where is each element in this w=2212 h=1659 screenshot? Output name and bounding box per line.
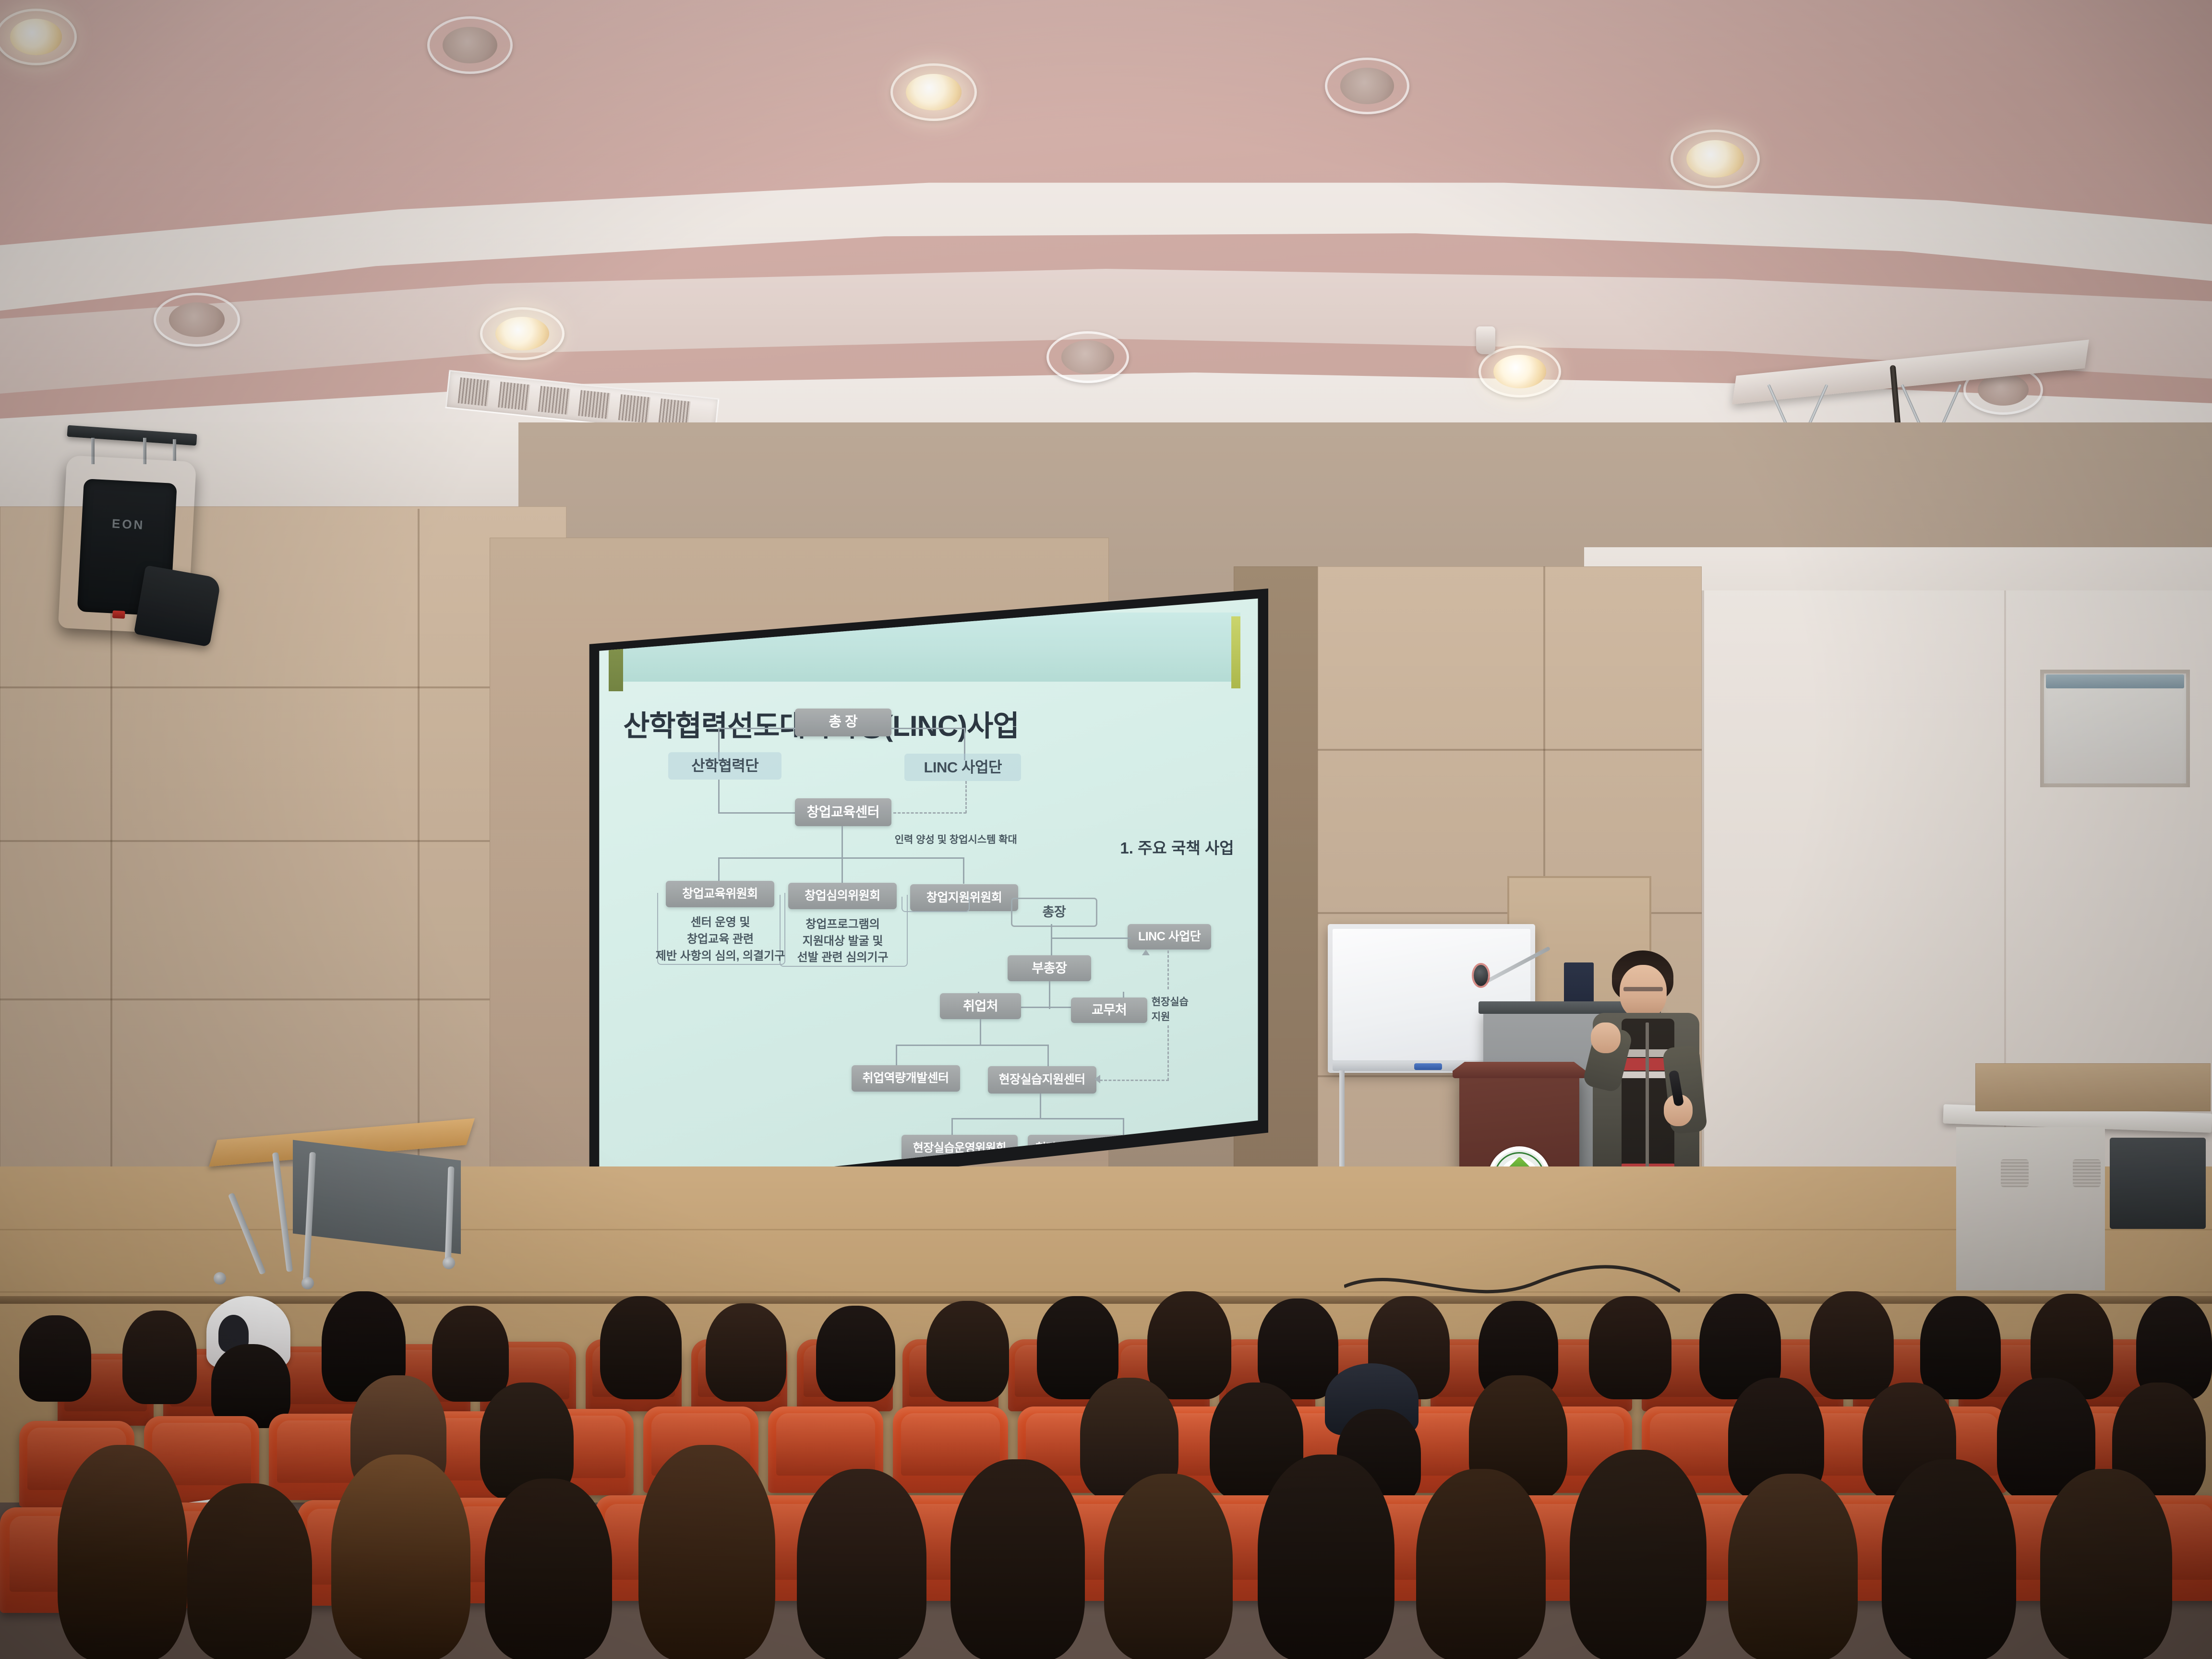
audience-head [432, 1306, 509, 1402]
projection-screen[interactable]: 산학협력선도대학육성(LINC)사업 1. 주요 국책 사업 총 장 산학협력단… [595, 594, 1261, 1196]
audience-head [816, 1306, 895, 1402]
wall-panel-seam [1318, 749, 1702, 751]
org-connector [718, 857, 720, 884]
speaker-secondary-cabinet [134, 565, 222, 647]
org-connector [718, 780, 720, 813]
org2-connector [1051, 924, 1052, 958]
org-connector [842, 857, 843, 884]
wall-panel-seam [418, 509, 420, 1181]
org-node-sanhak: 산학협력단 [668, 752, 781, 780]
audience-head [122, 1310, 197, 1404]
ceiling-downlight-icon [1325, 58, 1409, 114]
org-connector-dashed [893, 812, 966, 814]
org-caption-left: 센터 운영 및 창업교육 관련 제반 사항의 심의, 의결기구 [655, 914, 786, 964]
org2-connector-dashed [1167, 950, 1169, 989]
wall-panel-seam [0, 686, 566, 688]
audience-head [1882, 1459, 2016, 1659]
audience-head [638, 1445, 775, 1659]
audience-head [331, 1455, 470, 1659]
org2-connector [1051, 938, 1130, 939]
org2-node-buchongjang: 부총장 [1008, 955, 1091, 981]
counter-equipment-icon [2110, 1138, 2206, 1229]
audience-head [485, 1479, 612, 1659]
org-connector [842, 826, 843, 859]
org-connector [718, 728, 795, 729]
org-caption-brace [902, 897, 970, 912]
audience-head [187, 1483, 312, 1659]
org2-connector [951, 1118, 1124, 1119]
org2-connector [951, 1118, 953, 1137]
org2-annotation-hyeonjang: 현장실습 지원 [1152, 995, 1238, 1024]
audience-head [2040, 1469, 2172, 1659]
org2-arrow-up-icon [1142, 950, 1150, 955]
audience-head [797, 1469, 926, 1659]
wall-panel-seam [0, 998, 566, 1000]
glasses-icon [1623, 987, 1663, 991]
org2-connector [1040, 1094, 1041, 1119]
sweater-zipper [1646, 1022, 1649, 1181]
org-caption-mid: 창업프로그램의 지원대상 발굴 및 선발 관련 심의기구 [778, 916, 908, 966]
wall-recess-window [2040, 670, 2190, 787]
audience-head [1570, 1450, 1707, 1659]
jbl-badge-icon [112, 611, 125, 619]
window-blind [2046, 674, 2184, 688]
floor-seam [0, 1291, 2212, 1293]
speaker-hanger-rod [173, 439, 176, 461]
audience-head [706, 1303, 786, 1402]
podium-top-surface [1453, 1062, 1586, 1078]
audience-head [1728, 1474, 1858, 1659]
audience-head [926, 1301, 1009, 1402]
org-connector-dashed [965, 781, 967, 814]
org-connector [963, 857, 964, 884]
org-connector [718, 812, 798, 814]
org2-connector [1049, 981, 1050, 1009]
org2-connector-dashed [1100, 1080, 1169, 1081]
org2-connector [1123, 1118, 1124, 1137]
ceiling-downlight-icon [154, 293, 240, 347]
org-node-linc: LINC 사업단 [904, 754, 1021, 781]
microphone-head-icon [1474, 965, 1488, 986]
audience-head [1104, 1474, 1233, 1659]
org2-node-career-center: 취업역량개발센터 [852, 1065, 960, 1092]
org2-node-chongjang: 총장 [1011, 898, 1097, 927]
presenter-head [1620, 965, 1667, 1019]
org2-connector [980, 1019, 981, 1046]
audience-head [58, 1445, 187, 1659]
presentation-slide: 산학협력선도대학육성(LINC)사업 1. 주요 국책 사업 총 장 산학협력단… [595, 594, 1261, 1196]
audience-head [950, 1459, 1085, 1659]
sprinkler-head-icon [1476, 326, 1495, 354]
side-control-counter-body [1956, 1127, 2105, 1290]
org2-connector [1047, 1045, 1049, 1069]
ceiling-downlight-icon [1671, 130, 1760, 188]
counter-vent-panel [2001, 1159, 2029, 1187]
ceiling-downlight-icon [480, 307, 565, 360]
stage-front-edge [0, 1296, 2212, 1304]
org2-connector-dashed [1167, 1025, 1169, 1081]
counter-vent-panel [2073, 1159, 2101, 1187]
org2-node-gyomucheo: 교무처 [1071, 998, 1147, 1023]
audience-head [1147, 1291, 1231, 1399]
org2-node-chwieopcheo: 취업처 [940, 993, 1021, 1019]
org-node-chongjang: 총 장 [795, 709, 891, 736]
whiteboard-marker-icon[interactable] [1414, 1063, 1442, 1070]
audience-head [1810, 1291, 1894, 1399]
auditorium-presentation-scene: EON 산학협력선도대학육성(LINC)사업 1. 주요 국책 사업 총 장 산… [0, 0, 2212, 1659]
slide-section-label: 1. 주요 국책 사업 [1120, 835, 1234, 858]
table-caster-icon [214, 1272, 226, 1285]
ceiling-downlight-icon [890, 63, 977, 121]
org2-connector [896, 1045, 1049, 1046]
org2-arrow-left-icon [1094, 1075, 1100, 1083]
org-annotation-inryeok: 인력 양성 및 창업시스템 확대 [895, 833, 1094, 847]
slide-accent-bar-right [1231, 616, 1241, 688]
presenter-hand [1591, 1022, 1621, 1053]
ceiling-downlight-icon [1046, 331, 1129, 383]
ceiling-downlight-icon [427, 16, 513, 74]
counter-backing-panel [1975, 1063, 2211, 1111]
audience-head [1416, 1469, 1546, 1659]
org-connector [890, 728, 965, 729]
org2-node-field-center: 현장실습지원센터 [988, 1066, 1096, 1093]
table-caster-icon [443, 1257, 455, 1269]
org2-node-linc: LINC 사업단 [1128, 924, 1212, 950]
audience-head [1920, 1296, 2001, 1399]
audience-head [19, 1315, 91, 1402]
wall-panel-seam [0, 840, 566, 842]
org-node-changup-center: 창업교육센터 [795, 798, 891, 826]
table-caster-icon [301, 1277, 314, 1289]
speaker-brand-label: EON [111, 517, 145, 533]
audience-head [600, 1296, 682, 1399]
audience-head [1258, 1455, 1395, 1659]
